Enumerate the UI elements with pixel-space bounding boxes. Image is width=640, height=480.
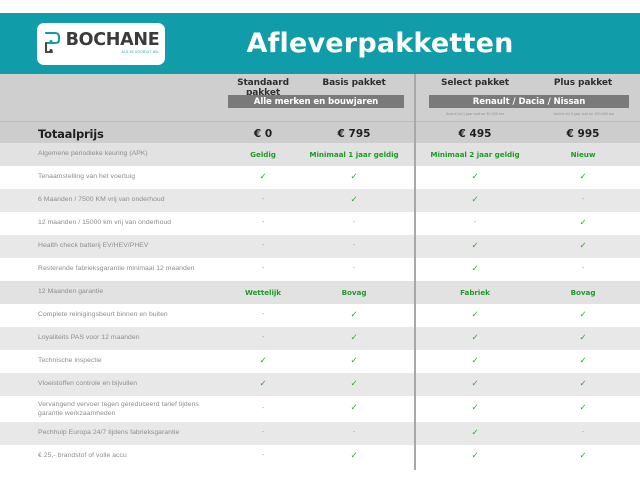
total-price-select: € 495 <box>424 128 526 140</box>
feature-label: Technische inspectie <box>38 357 223 366</box>
table-row: Health check batterij EV/HEV/PHEV--✓✓ <box>0 235 640 258</box>
cell-check: ✓ <box>303 451 405 461</box>
package-note-select: Auto's tot 1 jaar oud en 30.000 km <box>424 112 526 116</box>
cell-dash: - <box>303 242 405 249</box>
column-header-band: Standaard pakket Basis pakket Select pak… <box>0 74 640 121</box>
cell-dash: - <box>225 265 301 272</box>
cell-check: ✓ <box>303 356 405 366</box>
page-header: Afleverpakketten BOCHANE ALS JE VOORUIT … <box>0 13 640 74</box>
package-header-basis: Basis pakket <box>303 78 405 88</box>
cell-check: ✓ <box>303 403 405 413</box>
cell-word: Bovag <box>537 288 629 297</box>
cell-dash: - <box>537 196 629 203</box>
package-header-plus: Plus pakket <box>537 78 629 88</box>
table-row: Complete reinigingsbeurt binnen en buite… <box>0 304 640 327</box>
table-row: Loyaliteits PAS voor 12 maanden-✓✓✓ <box>0 327 640 350</box>
group-bar-renault-dacia-nissan: Renault / Dacia / Nissan <box>429 95 629 108</box>
cell-check: ✓ <box>303 310 405 320</box>
table-row: 12 maanden / 15000 km vrij van onderhoud… <box>0 212 640 235</box>
cell-dash: - <box>424 219 526 226</box>
cell-check: ✓ <box>303 172 405 182</box>
cell-check: ✓ <box>303 195 405 205</box>
cell-word: Fabriek <box>424 288 526 297</box>
cell-check: ✓ <box>424 333 526 343</box>
cell-check: ✓ <box>537 310 629 320</box>
total-price-row: Totaalprijs € 0 € 795 € 495 € 995 <box>0 121 640 144</box>
table-row: Algemene periodieke keuring (APK)GeldigM… <box>0 143 640 166</box>
cell-check: ✓ <box>424 379 526 389</box>
brand-name: BOCHANE <box>66 32 160 50</box>
group-divider <box>414 74 416 480</box>
total-price-plus: € 995 <box>537 128 629 140</box>
cell-dash: - <box>225 311 301 318</box>
feature-label: 6 Maanden / 7500 KM vrij van onderhoud <box>38 196 223 205</box>
cell-check: ✓ <box>537 356 629 366</box>
cell-word: Wettelijk <box>225 288 301 297</box>
cell-check: ✓ <box>424 403 526 413</box>
cell-dash: - <box>303 219 405 226</box>
table-row: Resterende fabrieksgarantie minimaal 12 … <box>0 258 640 281</box>
table-row: Pechhulp Europa 24/7 tijdens fabrieksgar… <box>0 422 640 445</box>
table-row: Technische inspectie✓✓✓✓ <box>0 350 640 373</box>
table-row: Tenaamstelling van het voertuig✓✓✓✓ <box>0 166 640 189</box>
feature-label: Tenaamstelling van het voertuig <box>38 173 223 182</box>
cell-word: Nieuw <box>537 150 629 159</box>
cell-dash: - <box>537 429 629 436</box>
cell-check: ✓ <box>424 356 526 366</box>
cell-check: ✓ <box>424 195 526 205</box>
cell-dash: - <box>225 196 301 203</box>
cell-check: ✓ <box>303 379 405 389</box>
cell-check: ✓ <box>537 333 629 343</box>
table-row: Vervangend vervoer tegen gereduceerd tar… <box>0 396 640 422</box>
brand-tagline: ALS JE VOORUIT WIL <box>122 51 160 54</box>
total-price-label: Totaalprijs <box>38 127 104 141</box>
cell-check: ✓ <box>537 403 629 413</box>
cell-dash: - <box>303 265 405 272</box>
afleverpakketten-page: Afleverpakketten BOCHANE ALS JE VOORUIT … <box>0 0 640 480</box>
cell-check: ✓ <box>424 428 526 438</box>
cell-check: ✓ <box>537 218 629 228</box>
feature-label: Pechhulp Europa 24/7 tijdens fabrieksgar… <box>38 429 223 438</box>
cell-check: ✓ <box>424 451 526 461</box>
cell-check: ✓ <box>424 264 526 274</box>
cell-dash: - <box>537 265 629 272</box>
cell-word: Minimaal 1 jaar geldig <box>303 150 405 159</box>
feature-label: 12 maanden / 15000 km vrij van onderhoud <box>38 219 223 228</box>
cell-dash: - <box>303 429 405 436</box>
table-row: 12 Maanden garantieWettelijkBovagFabriek… <box>0 281 640 304</box>
cell-dash: - <box>225 219 301 226</box>
cell-check: ✓ <box>303 333 405 343</box>
feature-label: Algemene periodieke keuring (APK) <box>38 150 223 159</box>
feature-label: Loyaliteits PAS voor 12 maanden <box>38 334 223 343</box>
brand-logo[interactable]: BOCHANE ALS JE VOORUIT WIL <box>37 23 165 65</box>
cell-word: Minimaal 2 jaar geldig <box>424 150 526 159</box>
feature-label: Complete reinigingsbeurt binnen en buite… <box>38 311 223 320</box>
table-row: € 25,- brandstof of volle accu-✓✓✓ <box>0 445 640 468</box>
feature-label: Resterende fabrieksgarantie minimaal 12 … <box>38 265 223 274</box>
page-bottom-margin <box>0 470 640 480</box>
cell-check: ✓ <box>225 356 301 366</box>
cell-word: Bovag <box>303 288 405 297</box>
cell-check: ✓ <box>225 379 301 389</box>
table-row: 6 Maanden / 7500 KM vrij van onderhoud-✓… <box>0 189 640 212</box>
total-price-basis: € 795 <box>303 128 405 140</box>
feature-label: Vloeistoffen controle en bijvullen <box>38 380 223 389</box>
cell-dash: - <box>225 452 301 459</box>
cell-check: ✓ <box>537 241 629 251</box>
cell-dash: - <box>225 429 301 436</box>
package-name-row: Standaard pakket Basis pakket Select pak… <box>0 78 640 92</box>
table-row: Vloeistoffen controle en bijvullen✓✓✓✓ <box>0 373 640 396</box>
cell-check: ✓ <box>537 379 629 389</box>
total-price-standaard: € 0 <box>225 128 301 140</box>
bochane-mark-icon <box>43 31 62 55</box>
feature-rows: Algemene periodieke keuring (APK)GeldigM… <box>0 143 640 468</box>
cell-check: ✓ <box>537 172 629 182</box>
cell-word: Geldig <box>225 150 301 159</box>
feature-label: Vervangend vervoer tegen gereduceerd tar… <box>38 401 223 418</box>
cell-dash: - <box>225 242 301 249</box>
cell-check: ✓ <box>537 451 629 461</box>
cell-dash: - <box>225 405 301 412</box>
feature-label: € 25,- brandstof of volle accu <box>38 452 223 461</box>
cell-check: ✓ <box>424 172 526 182</box>
cell-check: ✓ <box>424 241 526 251</box>
feature-label: 12 Maanden garantie <box>38 288 223 297</box>
cell-check: ✓ <box>225 172 301 182</box>
cell-check: ✓ <box>424 310 526 320</box>
package-header-select: Select pakket <box>424 78 526 88</box>
cell-dash: - <box>225 334 301 341</box>
feature-label: Health check batterij EV/HEV/PHEV <box>38 242 223 251</box>
package-note-plus: Auto's tot 5 jaar oud en 100.000 km <box>533 112 635 116</box>
group-bar-alle-merken: Alle merken en bouwjaren <box>228 95 404 108</box>
